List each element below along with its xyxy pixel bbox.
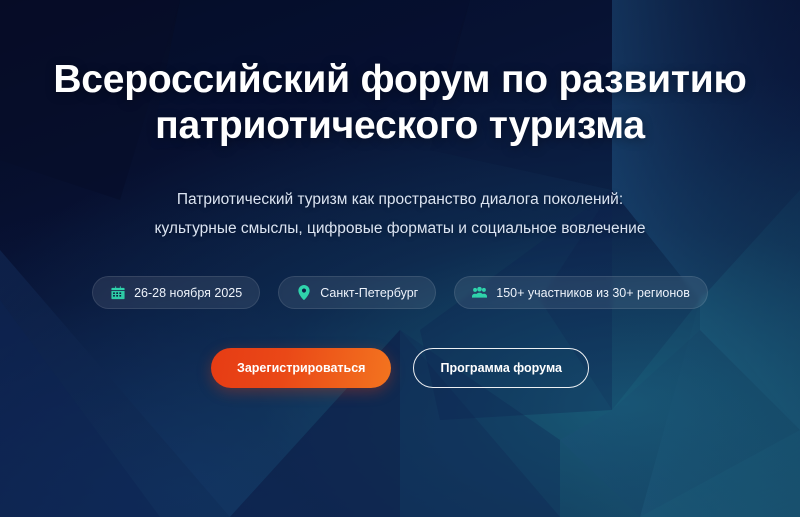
badge-date-label: 26-28 ноября 2025 xyxy=(134,286,242,300)
page-subtitle: Патриотический туризм как пространство д… xyxy=(155,185,646,243)
info-badge-row: 26-28 ноября 2025 Санкт-Петербург xyxy=(92,276,708,309)
hero-content: Всероссийский форум по развитию патриоти… xyxy=(0,0,800,517)
program-button[interactable]: Программа форума xyxy=(413,348,589,388)
calendar-icon xyxy=(110,285,125,300)
badge-participants: 150+ участников из 30+ регионов xyxy=(454,276,708,309)
title-line-3: туризма xyxy=(489,104,645,147)
hero-banner: Всероссийский форум по развитию патриоти… xyxy=(0,0,800,517)
badge-location: Санкт-Петербург xyxy=(278,276,436,309)
badge-date: 26-28 ноября 2025 xyxy=(92,276,260,309)
subtitle-line-1: Патриотический туризм как пространство д… xyxy=(155,185,646,214)
people-group-icon xyxy=(472,285,487,300)
location-pin-icon xyxy=(296,285,311,300)
page-title: Всероссийский форум по развитию патриоти… xyxy=(50,57,750,149)
subtitle-line-2: культурные смыслы, цифровые форматы и со… xyxy=(155,214,646,243)
badge-location-label: Санкт-Петербург xyxy=(320,286,418,300)
badge-participants-label: 150+ участников из 30+ регионов xyxy=(496,286,690,300)
cta-button-row: Зарегистрироваться Программа форума xyxy=(211,348,589,388)
register-button[interactable]: Зарегистрироваться xyxy=(211,348,391,388)
title-line-1: Всероссийский форум xyxy=(53,58,490,101)
